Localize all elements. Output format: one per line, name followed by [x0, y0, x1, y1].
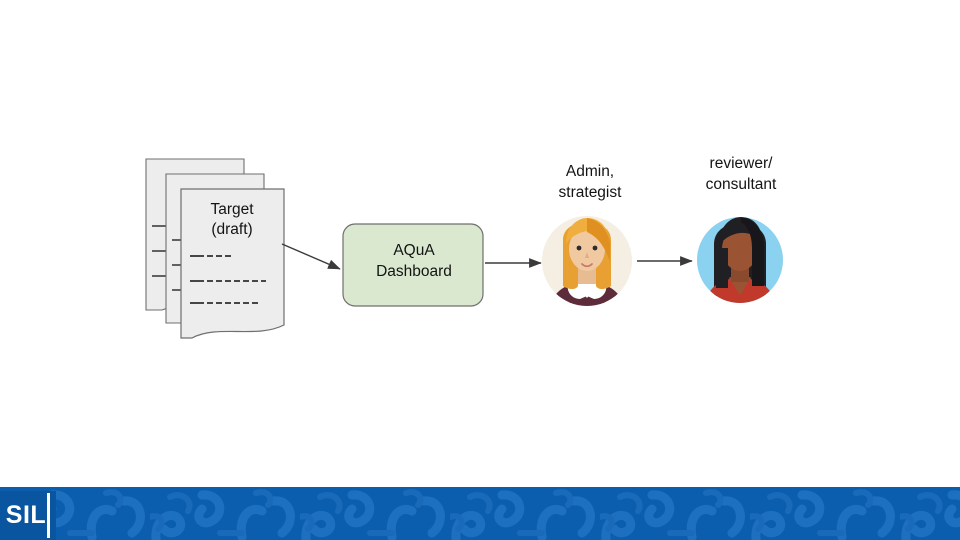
caption-admin-line-2: strategist [517, 183, 663, 204]
sil-brand-banner: SIL [0, 487, 960, 540]
brand-decorative-pattern [0, 487, 960, 540]
caption-reviewer-line-2: consultant [667, 175, 815, 196]
caption-reviewer-line-1: reviewer/ [667, 154, 815, 175]
slide-canvas: T t T t [0, 0, 960, 540]
avatar-admin-strategist[interactable] [542, 216, 632, 320]
dashboard-label-line-1: AQuA [344, 241, 484, 262]
sil-logo-text: SIL [6, 501, 46, 530]
caption-admin-line-1: Admin, [517, 162, 663, 183]
sil-logo-divider [47, 493, 50, 538]
caption-reviewer-consultant: reviewer/ consultant [667, 154, 815, 195]
document-title: Target (draft) [178, 200, 286, 241]
caption-admin-strategist: Admin, strategist [517, 162, 663, 203]
dashboard-label-line-2: Dashboard [344, 262, 484, 283]
document-title-line-2: (draft) [178, 220, 286, 240]
dashboard-label: AQuA Dashboard [344, 241, 484, 283]
arrow-documents-to-dashboard [282, 244, 340, 269]
document-title-line-1: Target [178, 200, 286, 220]
avatar-reviewer-consultant[interactable] [697, 217, 783, 312]
